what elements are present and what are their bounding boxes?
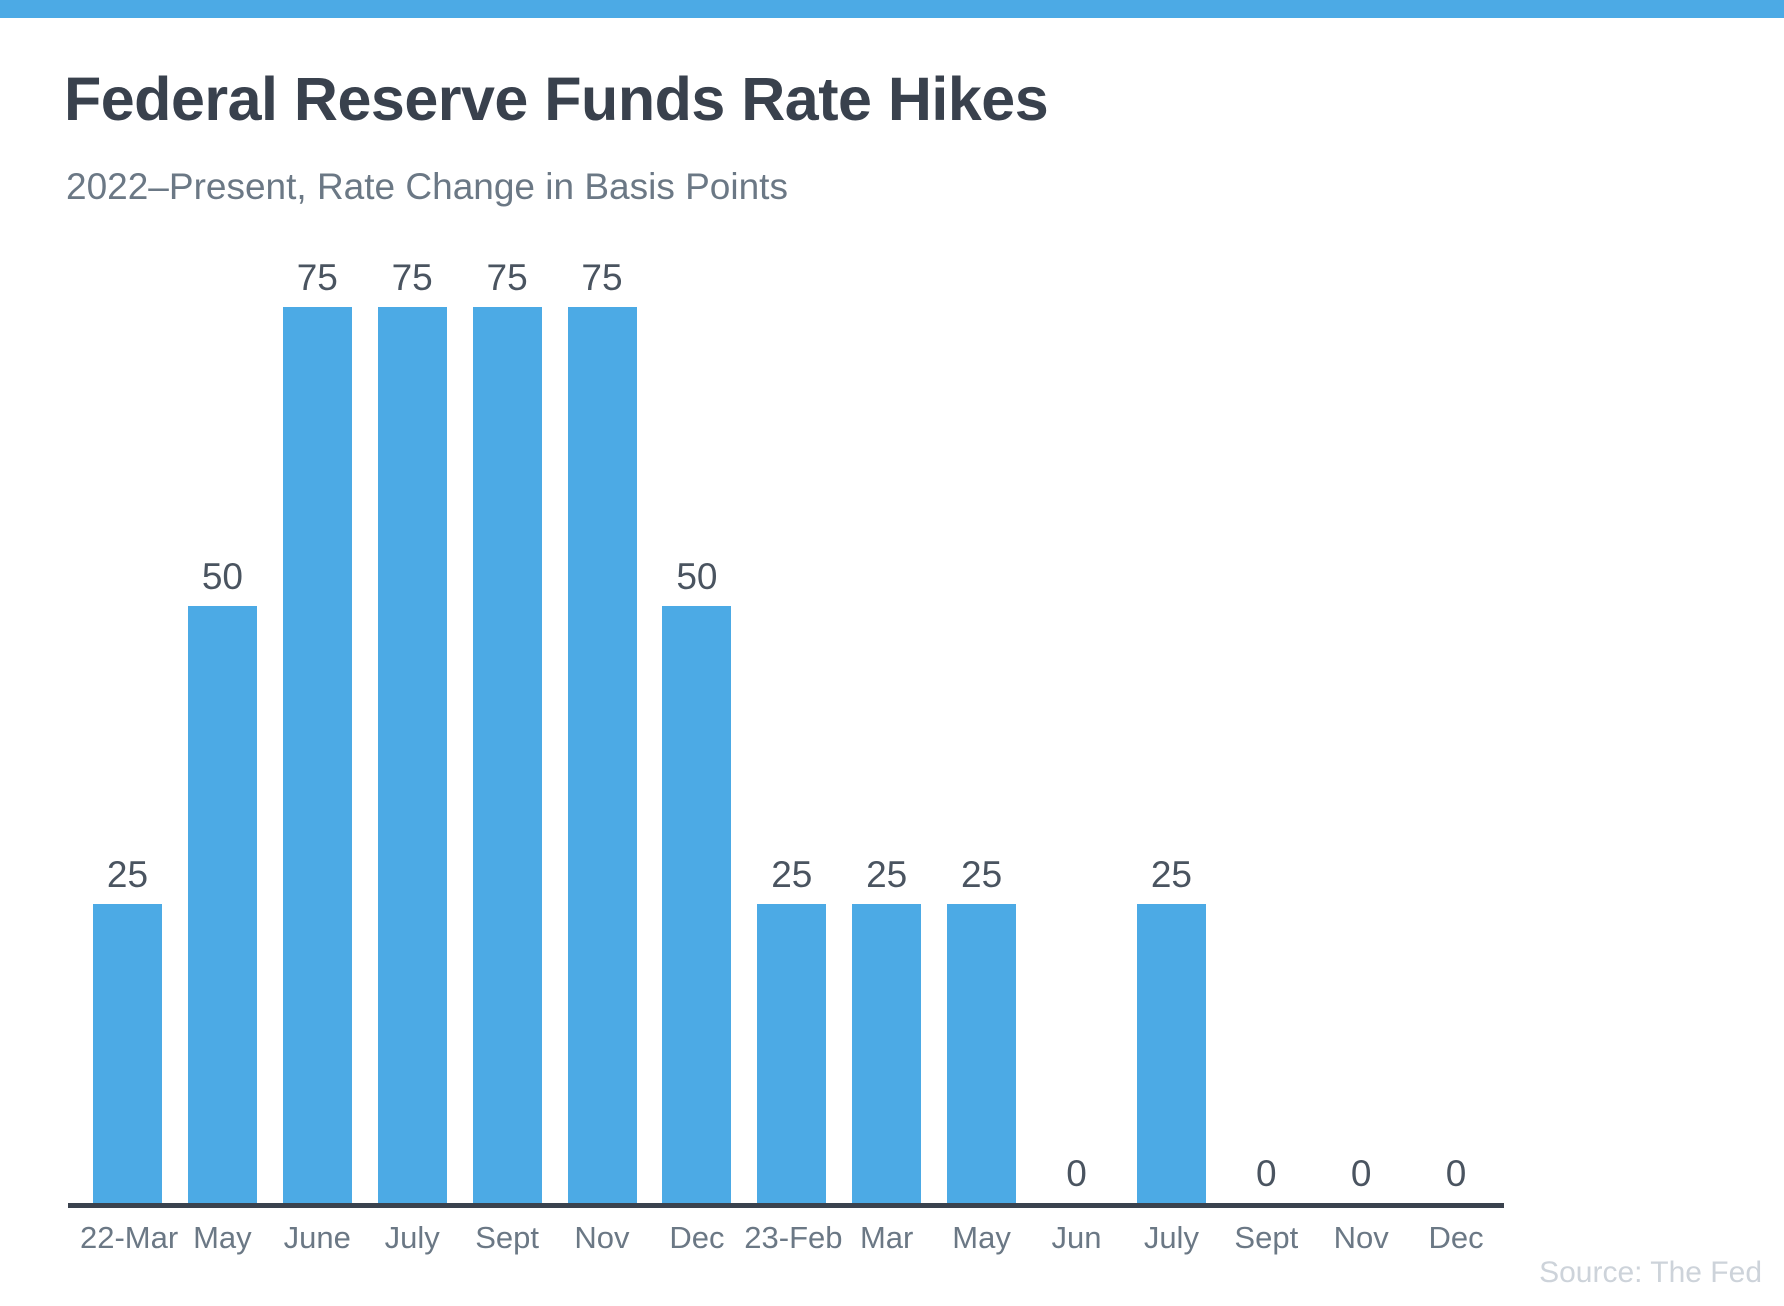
bar-value-label: 75 [555,259,650,296]
bar[interactable] [662,606,731,1204]
bar[interactable] [852,904,921,1203]
bar-value-label: 25 [1124,856,1219,893]
x-axis-category-label: Mar [839,1222,934,1253]
bar[interactable] [188,606,257,1204]
source-note: Source: The Fed [1539,1258,1762,1288]
bar-value-label: 25 [839,856,934,893]
x-axis-category-label: May [934,1222,1029,1253]
bar[interactable] [757,904,826,1203]
x-axis-category-label: Nov [1314,1222,1409,1253]
bar-value-label: 25 [744,856,839,893]
bar-value-label: 50 [175,558,270,595]
x-axis-category-label: Dec [1409,1222,1504,1253]
bar-chart-plot-area: 2522-Mar50May75June75July75Sept75Nov50De… [0,0,1784,1306]
bar-value-label: 0 [1219,1155,1314,1192]
bar-value-label: 0 [1314,1155,1409,1192]
x-axis-category-label: Sept [460,1222,555,1253]
x-axis-category-label: July [365,1222,460,1253]
bar-value-label: 25 [934,856,1029,893]
x-axis-category-label: Jun [1029,1222,1124,1253]
bar-value-label: 0 [1029,1155,1124,1192]
bar-value-label: 75 [365,259,460,296]
bar-value-label: 25 [80,856,175,893]
x-axis-category-label: 23-Feb [744,1222,839,1253]
bar[interactable] [568,307,637,1203]
bar[interactable] [947,904,1016,1203]
bar[interactable] [283,307,352,1203]
x-axis-category-label: Dec [649,1222,744,1253]
x-axis-category-label: May [175,1222,270,1253]
x-axis-category-label: Nov [555,1222,650,1253]
bar-value-label: 75 [460,259,555,296]
bar-value-label: 0 [1409,1155,1504,1192]
bar[interactable] [378,307,447,1203]
x-axis-category-label: Sept [1219,1222,1314,1253]
bar-value-label: 75 [270,259,365,296]
x-axis-category-label: 22-Mar [80,1222,175,1253]
bar-value-label: 50 [649,558,744,595]
x-axis-line [68,1203,1504,1208]
bar[interactable] [473,307,542,1203]
x-axis-category-label: July [1124,1222,1219,1253]
bar[interactable] [93,904,162,1203]
bar[interactable] [1137,904,1206,1203]
x-axis-category-label: June [270,1222,365,1253]
